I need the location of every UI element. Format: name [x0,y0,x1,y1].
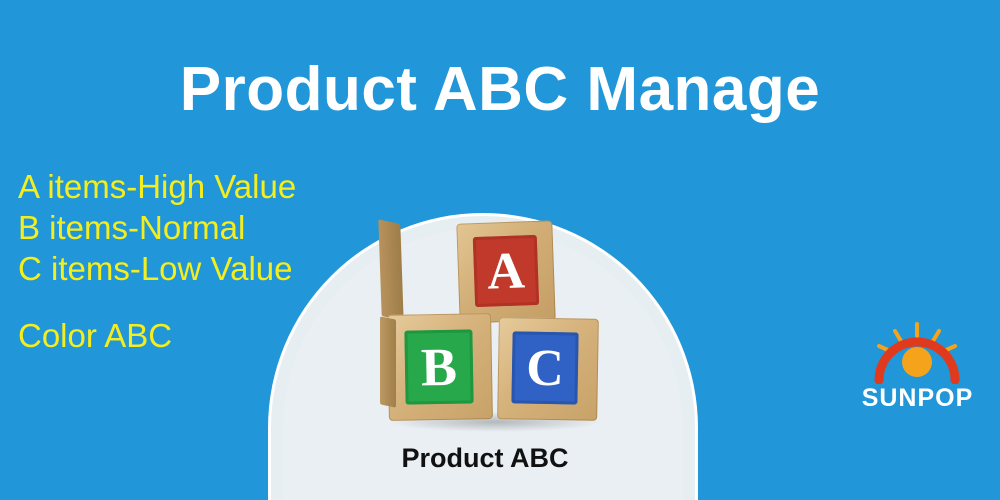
bullet-item-c: C items-Low Value [18,248,296,289]
bullet-item-color-abc: Color ABC [18,315,296,356]
block-b-letter: B [404,329,473,404]
sunpop-logo: SUNPOP [855,322,980,422]
block-c-letter: C [511,331,578,404]
logo-text: SUNPOP [855,384,980,413]
block-a-letter: A [473,235,539,307]
block-c-side-face [380,316,396,407]
wooden-block-a: A [456,220,555,323]
abc-blocks-illustration: A B C [380,222,610,432]
bullet-item-a: A items-High Value [18,166,296,207]
bullet-item-b: B items-Normal [18,207,296,248]
illustration-caption: Product ABC [270,443,700,474]
bullet-list: A items-High Value B items-Normal C item… [18,166,296,356]
wooden-block-c: C [497,317,599,421]
sun-icon [869,322,965,384]
bullet-spacer [18,289,296,315]
product-abc-banner: Product ABC Manage A items-High Value B … [0,0,1000,500]
block-a-side-face [378,219,403,320]
page-title: Product ABC Manage [0,56,1000,124]
wooden-block-b: B [387,313,493,421]
